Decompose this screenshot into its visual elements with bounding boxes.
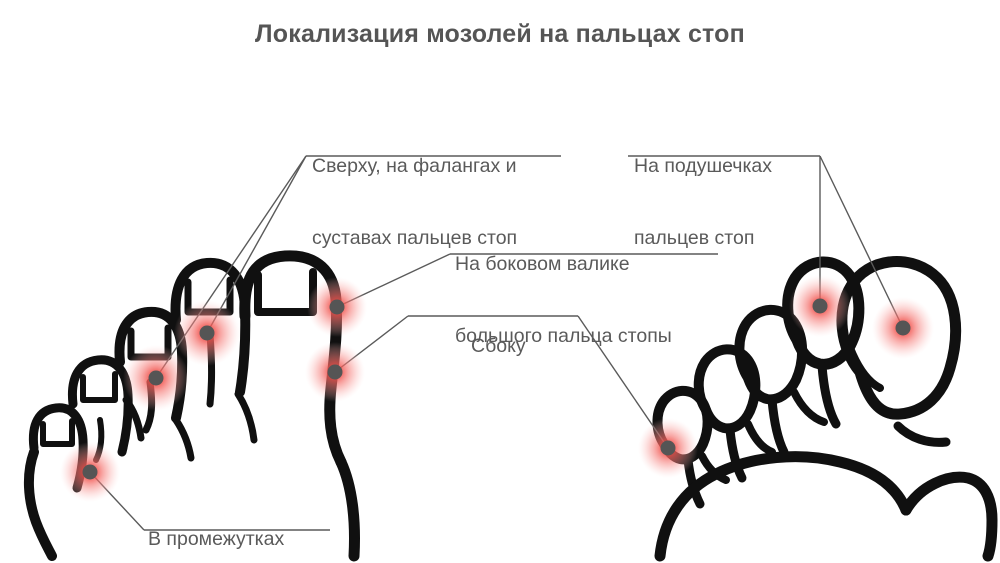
callout-label-top-phalanges-line1: Сверху, на фалангах и (312, 154, 517, 178)
marker-little-toe-side[interactable] (638, 418, 698, 478)
marker-between-toes[interactable] (60, 442, 120, 502)
marker-toe-pad-second-toe[interactable] (789, 275, 851, 337)
marker-big-toe-side[interactable] (305, 342, 365, 402)
callout-label-side: Сбоку (471, 286, 526, 406)
callout-label-toe-pads-line1: На подушечках (634, 154, 772, 178)
callout-label-between-toes: В промежутках между пальцами (148, 479, 301, 563)
diagram-page: Локализация мозолей на пальцах стоп (0, 0, 1000, 563)
marker-top-phalanx-fourth-toe[interactable] (123, 345, 189, 411)
marker-top-phalanx-third-toe[interactable] (174, 300, 240, 366)
callout-label-between-toes-line1: В промежутках (148, 527, 301, 551)
callout-label-side-line1: Сбоку (471, 334, 526, 358)
callout-label-big-toe-side-ridge-line1: На боковом валике (455, 252, 672, 276)
marker-toe-pad-big-toe[interactable] (872, 297, 934, 359)
